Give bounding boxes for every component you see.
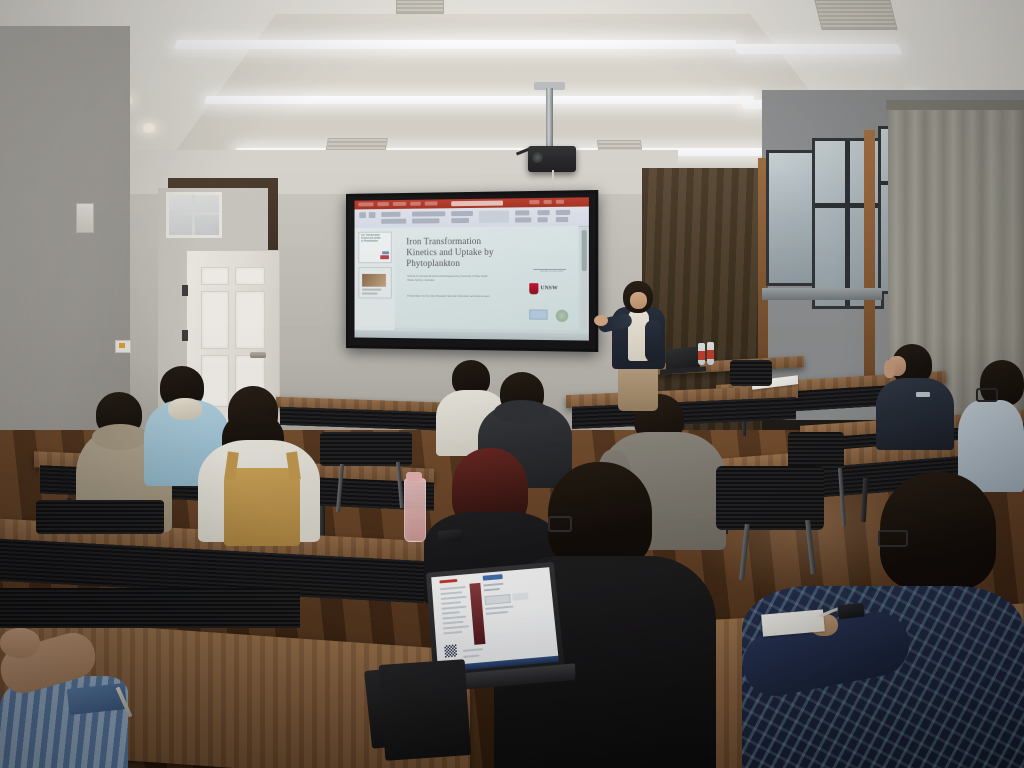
student-hand-navy-sweat xyxy=(884,360,895,378)
chair-left-row[interactable] xyxy=(36,500,164,534)
slide-title-line-2: Kinetics and Uptake by xyxy=(406,247,570,259)
student-body-lightblue-right xyxy=(958,400,1024,492)
slide-thumbnail-1[interactable]: Iron Transformation Kinetics and Uptake … xyxy=(358,232,391,264)
door-panel-4 xyxy=(235,291,265,349)
student-body-navy-sweat xyxy=(876,378,954,450)
presenter-face xyxy=(630,292,647,309)
water-bottle-pink-cap xyxy=(406,472,422,481)
student-glasses-plaid xyxy=(878,530,908,547)
student-hood-beige xyxy=(92,424,148,450)
laptop-screen[interactable] xyxy=(431,567,559,672)
slide-thumbnail-1-label: Iron Transformation Kinetics and Uptake … xyxy=(361,235,382,244)
slide-title: Iron Transformation Kinetics and Uptake … xyxy=(406,235,570,269)
student-hand-blue-stripe xyxy=(0,628,40,658)
downlight-2 xyxy=(140,123,158,133)
linear-light-2 xyxy=(204,96,755,104)
window-mullion-v xyxy=(845,141,850,306)
presenter-right-arm xyxy=(645,320,661,362)
door-hinge-top xyxy=(182,285,188,296)
phone-right-desk[interactable] xyxy=(837,603,864,620)
door-panel-2 xyxy=(235,267,265,285)
projection-screen: Iron Transformation Kinetics and Uptake … xyxy=(346,190,598,352)
linear-light-1 xyxy=(173,40,737,49)
slide-stage: Iron Transformation Kinetics and Uptake … xyxy=(395,226,579,330)
screen-surface: Iron Transformation Kinetics and Uptake … xyxy=(355,197,589,340)
window-jamb-right xyxy=(864,130,875,380)
window-pane-1 xyxy=(766,150,818,286)
door-panel-5 xyxy=(201,355,229,407)
phone-center-desk[interactable] xyxy=(438,529,463,543)
unsw-wordmark: UNSW xyxy=(540,285,557,291)
projector-lens xyxy=(532,152,543,163)
slide-subtitle-block-1: School of Civil and Environmental Engine… xyxy=(407,275,494,284)
student-scarf-lightblue xyxy=(168,398,202,420)
seal-badge-icon xyxy=(556,310,568,322)
door-hinge-bottom xyxy=(182,330,188,341)
student-hood-dark xyxy=(494,400,550,424)
student-sleeve-badge xyxy=(916,392,930,397)
student-glasses-black-laptop xyxy=(548,516,572,532)
water-bottle-pink xyxy=(404,478,426,542)
transom-mullion-v xyxy=(192,195,195,235)
chair-center[interactable] xyxy=(320,432,412,466)
powerpoint-status-bar xyxy=(355,331,589,341)
hvac-vent-1 xyxy=(814,0,897,30)
slide-title-line-1: Iron Transformation xyxy=(406,235,570,247)
slide-scrollbar[interactable] xyxy=(582,228,587,328)
water-bottle-2-label xyxy=(707,350,714,359)
slide-title-line-3: Phytoplankton xyxy=(406,258,570,269)
slide-thumbnail-panel[interactable]: Iron Transformation Kinetics and Uptake … xyxy=(355,228,396,330)
chair-back-right-1[interactable] xyxy=(730,360,772,386)
presenter-hand xyxy=(594,315,608,326)
light-switch-indicator xyxy=(119,343,125,348)
curtain-rail xyxy=(886,100,1024,110)
transom-window xyxy=(166,192,222,238)
student-hair-black-laptop xyxy=(548,462,652,568)
slide-scrollbar-thumb[interactable] xyxy=(582,230,587,271)
door-panel-1 xyxy=(201,267,229,285)
projector-pole xyxy=(546,88,553,150)
partner-badge-icon xyxy=(529,309,547,319)
unsw-shield-icon xyxy=(529,283,538,294)
door-panel-3 xyxy=(201,291,229,349)
unsw-logo: UNSW xyxy=(529,283,564,295)
slide-thumbnail-2[interactable] xyxy=(358,267,391,299)
linear-light-4 xyxy=(733,44,903,54)
never-stand-still-text: NEVER STAND STILL xyxy=(540,270,564,273)
door-handle[interactable] xyxy=(250,352,266,358)
chair-foreground-left[interactable] xyxy=(0,588,300,628)
presenter-trousers xyxy=(618,365,658,411)
laptop-sleeve xyxy=(379,659,471,761)
hvac-vent-4 xyxy=(396,0,444,14)
student-overalls-mustard xyxy=(224,468,300,546)
window-sill xyxy=(762,288,882,300)
wall-utility-box xyxy=(76,203,94,233)
slide-subtitle-block-2: Presentation for the Joint Research Semi… xyxy=(407,295,494,300)
water-bottle-1-label xyxy=(698,351,705,360)
lecture-room-photo: Iron Transformation Kinetics and Uptake … xyxy=(0,0,1024,768)
student-glasses-lightblue-right xyxy=(976,388,998,402)
